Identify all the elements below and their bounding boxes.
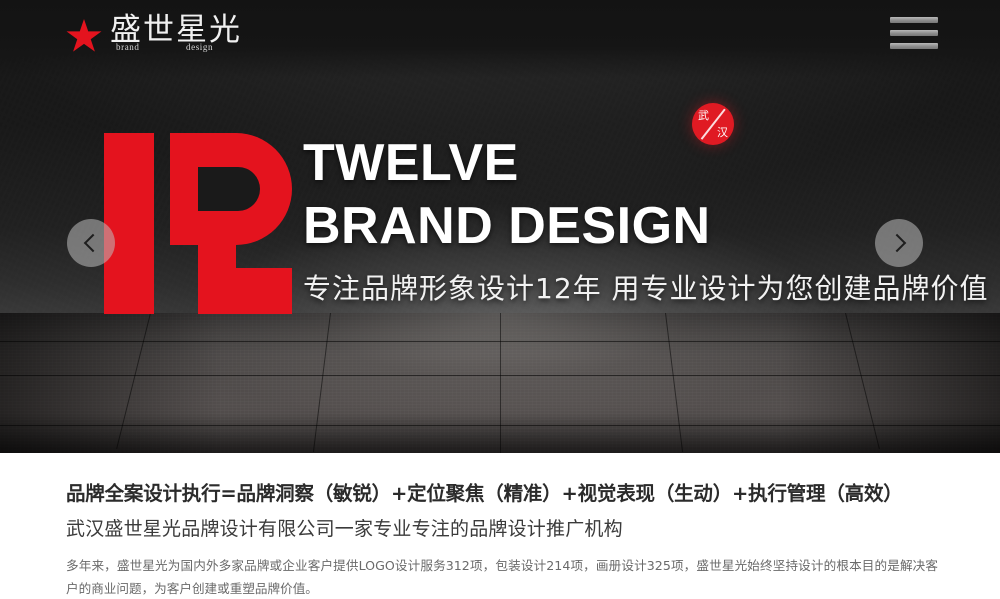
about-subheading: 武汉盛世星光品牌设计有限公司一家专业专注的品牌设计推广机构 <box>66 516 938 542</box>
hamburger-menu-icon[interactable] <box>890 17 938 49</box>
hero-tagline: 专注品牌形象设计12年 用专业设计为您创建品牌价值 <box>303 272 989 306</box>
about-paragraph: 多年来，盛世星光为国内外多家品牌或企业客户提供LOGO设计服务312项，包装设计… <box>66 554 938 599</box>
numeral-two-counter <box>198 167 260 211</box>
carousel-next-button[interactable] <box>875 219 923 267</box>
red-star-icon <box>66 19 102 53</box>
city-badge-wuhan: 武 汉 <box>692 103 734 145</box>
carousel-prev-button[interactable] <box>67 219 115 267</box>
logo-subtext-design: design <box>186 42 213 52</box>
logo-subtext-brand: brand <box>116 42 140 52</box>
hamburger-bar <box>890 30 938 36</box>
chevron-left-icon <box>84 234 102 252</box>
page-root: TWELVE BRAND DESIGN 专注品牌形象设计12年 用专业设计为您创… <box>0 0 1000 599</box>
numeral-one-glyph <box>104 133 154 314</box>
chevron-right-icon <box>888 234 906 252</box>
city-badge-top-char: 武 <box>698 110 709 121</box>
hero-title-line-2: BRAND DESIGN <box>303 198 711 254</box>
numeral-two-glyph <box>170 133 292 314</box>
top-navigation-bar: 盛世星光 brand design <box>0 0 1000 66</box>
site-logo[interactable]: 盛世星光 brand design <box>66 9 246 57</box>
hero-numeral-12 <box>98 130 293 315</box>
hamburger-bar <box>890 43 938 49</box>
about-section: 品牌全案设计执行=品牌洞察（敏锐）+定位聚焦（精准）+视觉表现（生动）+执行管理… <box>0 453 1000 599</box>
floor-vignette <box>0 313 1000 453</box>
city-badge-bottom-char: 汉 <box>717 127 728 138</box>
numeral-two-base <box>198 268 292 314</box>
about-section-inner: 品牌全案设计执行=品牌洞察（敏锐）+定位聚焦（精准）+视觉表现（生动）+执行管理… <box>66 481 938 599</box>
hamburger-bar <box>890 17 938 23</box>
hero-banner: TWELVE BRAND DESIGN 专注品牌形象设计12年 用专业设计为您创… <box>0 0 1000 453</box>
hero-title-line-1: TWELVE <box>303 135 519 191</box>
hero-floor <box>0 313 1000 453</box>
about-heading: 品牌全案设计执行=品牌洞察（敏锐）+定位聚焦（精准）+视觉表现（生动）+执行管理… <box>66 481 938 507</box>
